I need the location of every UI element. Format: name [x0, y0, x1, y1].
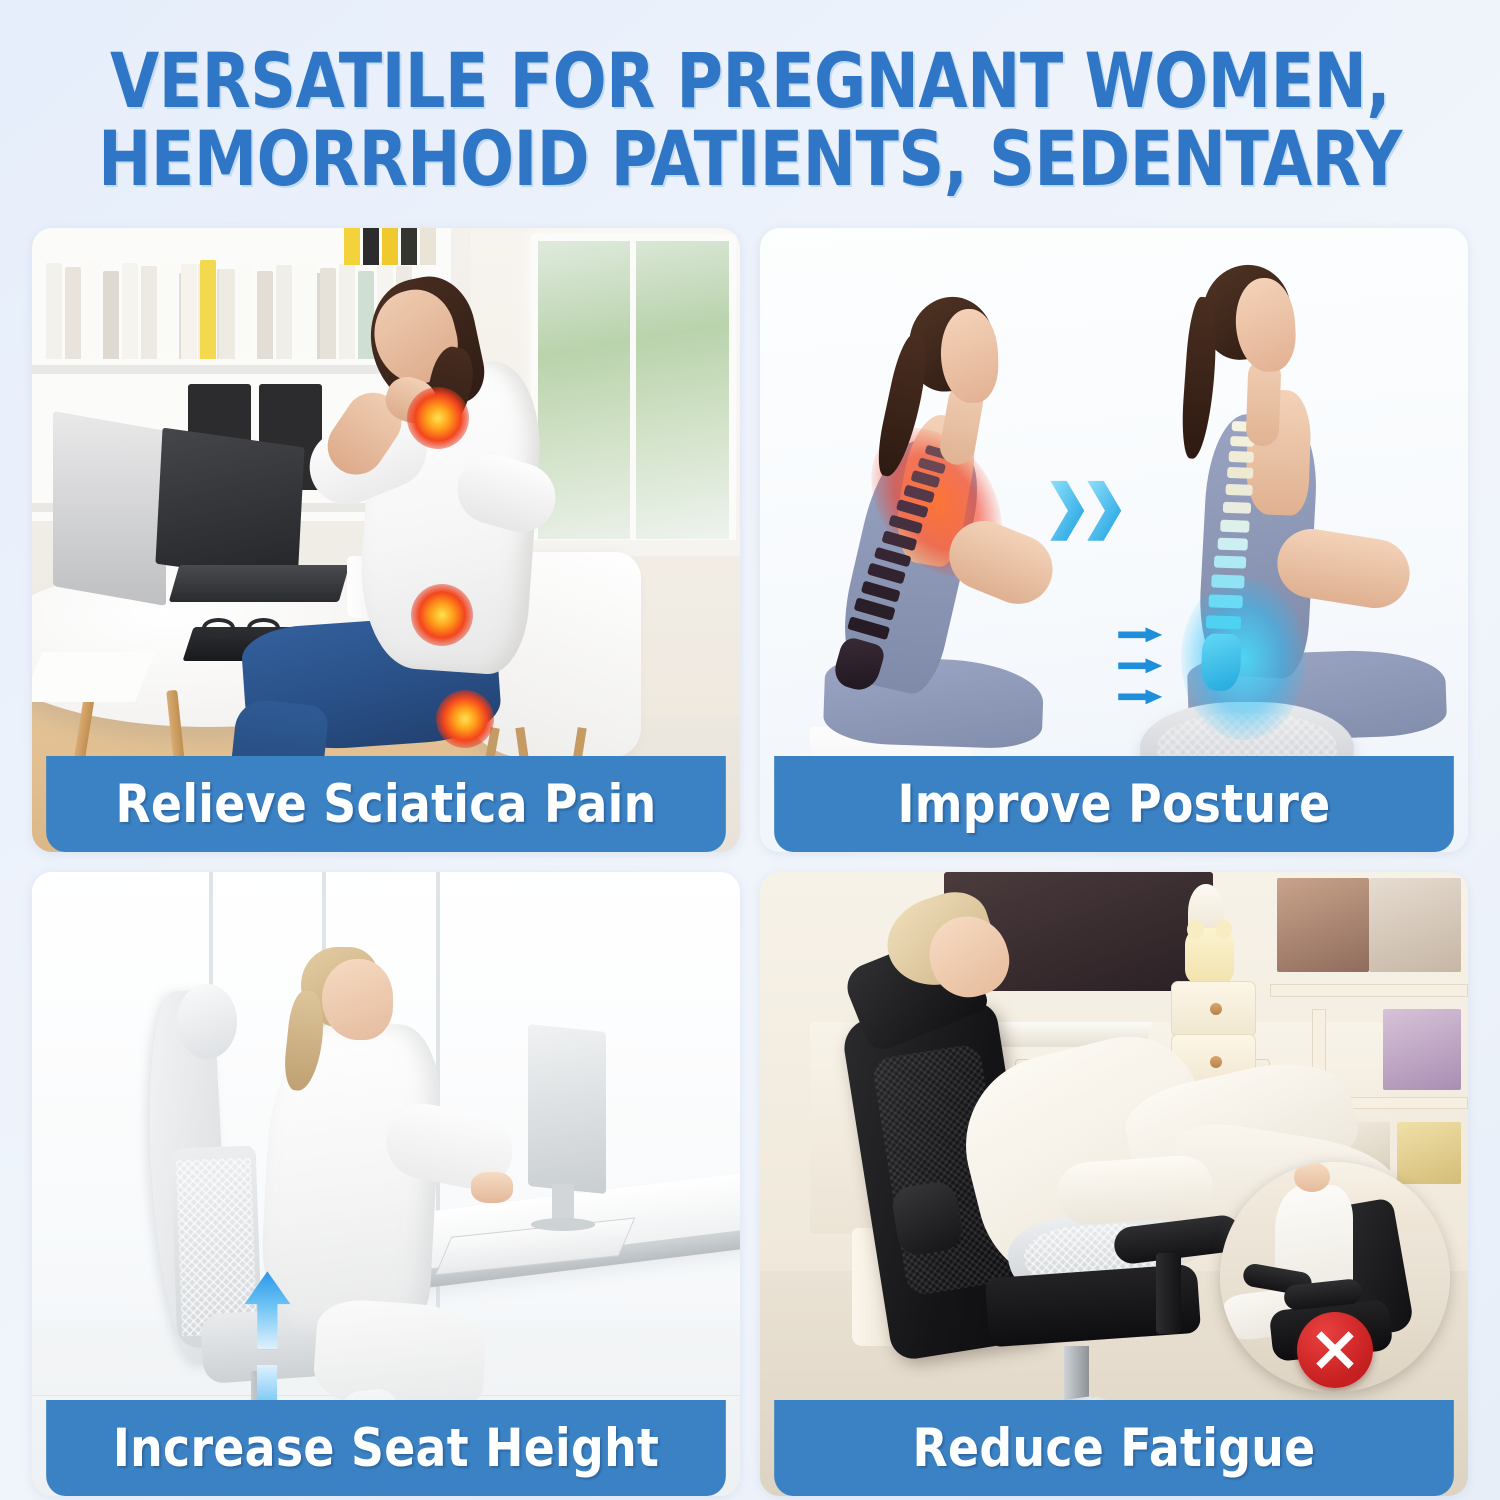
- pain-marker-neck-icon: [407, 387, 469, 449]
- arrow-up-icon: [244, 1271, 290, 1349]
- x-mark-badge-icon: [1297, 1312, 1373, 1388]
- page-title: VERSATILE FOR PREGNANT WOMEN, HEMORRHOID…: [53, 42, 1448, 197]
- chair-headrest: [177, 984, 237, 1059]
- chair-lumbar-support: [890, 1179, 964, 1257]
- drawer-knob: [1210, 1003, 1222, 1015]
- page-title-line-1: VERSATILE FOR PREGNANT WOMEN,: [53, 42, 1448, 120]
- framed-picture: [1277, 878, 1369, 972]
- figure-neck: [1246, 358, 1282, 446]
- monitor-stand: [552, 1184, 573, 1221]
- papers: [32, 652, 155, 702]
- lumbar-support-arrows-icon: [1118, 627, 1162, 704]
- pain-marker-hip-icon: [436, 690, 494, 748]
- teddy-bear-icon: [1185, 928, 1235, 984]
- person-hand: [471, 1172, 513, 1203]
- monitor: [528, 1024, 606, 1194]
- benefit-panel-grid: Relieve Sciatica Pain: [32, 228, 1468, 1468]
- window-icon: [531, 234, 736, 546]
- spine-overlay-healthy: [1194, 414, 1263, 715]
- infographic-page: VERSATILE FOR PREGNANT WOMEN, HEMORRHOID…: [0, 0, 1500, 1500]
- chair-armrest-post: [1156, 1253, 1181, 1334]
- laptop-keyboard: [168, 565, 349, 602]
- caption-reduce-fatigue: Reduce Fatigue: [774, 1400, 1454, 1496]
- caption-improve-posture: Improve Posture: [774, 756, 1454, 852]
- person-head: [322, 959, 393, 1040]
- inset-person-head: [1294, 1162, 1331, 1192]
- wall-shelf: [1270, 984, 1468, 996]
- book-row-top: [344, 228, 436, 265]
- panel-increase-seat-height[interactable]: Increase Seat Height: [32, 872, 740, 1496]
- pain-marker-lower-back-icon: [411, 584, 473, 646]
- person-arm: [1055, 1154, 1215, 1227]
- drawer-knob: [1210, 1056, 1222, 1068]
- framed-picture: [1383, 1009, 1461, 1090]
- page-title-line-2: HEMORRHOID PATIENTS, SEDENTARY: [53, 120, 1448, 198]
- monitor-base: [531, 1218, 595, 1230]
- monitor: [53, 411, 166, 606]
- panel-reduce-fatigue[interactable]: Reduce Fatigue: [760, 872, 1468, 1496]
- inset-incorrect-posture: [1220, 1162, 1450, 1392]
- panel-improve-posture[interactable]: Improve Posture: [760, 228, 1468, 852]
- panel-relieve-sciatica-pain[interactable]: Relieve Sciatica Pain: [32, 228, 740, 852]
- caption-increase-seat-height: Increase Seat Height: [46, 1400, 726, 1496]
- framed-picture: [1369, 878, 1461, 972]
- laptop-screen: [156, 428, 305, 584]
- caption-relieve-sciatica-pain: Relieve Sciatica Pain: [46, 756, 726, 852]
